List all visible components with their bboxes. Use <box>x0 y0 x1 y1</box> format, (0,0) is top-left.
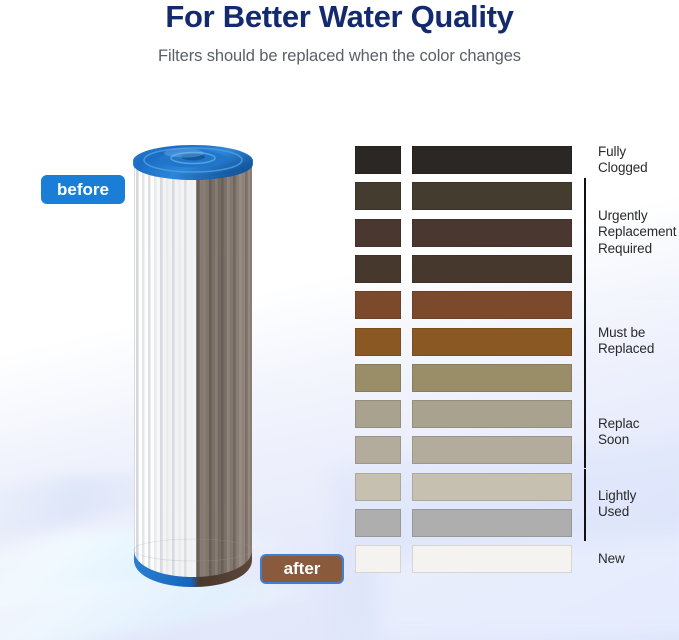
swatch-wide <box>412 182 572 210</box>
swatch-wide <box>412 509 572 537</box>
page-subtitle: Filters should be replaced when the colo… <box>0 47 679 66</box>
filter-illustration <box>126 136 260 596</box>
swatch-small <box>355 255 401 283</box>
swatch-small <box>355 219 401 247</box>
group-label: Must be Replaced <box>598 325 654 358</box>
swatch-small <box>355 182 401 210</box>
swatch-small <box>355 473 401 501</box>
group-label: Replac Soon <box>598 416 639 449</box>
group-label: Lightly Used <box>598 488 636 521</box>
badge-after-label: after <box>284 559 321 579</box>
swatch-wide <box>412 291 572 319</box>
swatch-small <box>355 545 401 573</box>
header: For Better Water Quality Filters should … <box>0 0 679 66</box>
group-bracket-line <box>584 287 586 396</box>
badge-after: after <box>260 554 344 584</box>
swatch-wide <box>412 146 572 174</box>
group-label: Fully Clogged <box>598 144 648 177</box>
swatch-small <box>355 328 401 356</box>
swatch-small <box>355 400 401 428</box>
group-bracket-line <box>584 469 586 541</box>
swatch-small <box>355 509 401 537</box>
water-filter-cartridge <box>126 136 260 596</box>
swatch-wide <box>412 545 572 573</box>
group-label: Urgently Replacement Required <box>598 208 676 257</box>
group-label: New <box>598 551 625 567</box>
badge-before: before <box>41 175 125 204</box>
badge-before-label: before <box>57 180 109 200</box>
swatch-small <box>355 436 401 464</box>
swatch-small <box>355 146 401 174</box>
swatch-wide <box>412 364 572 392</box>
page-title: For Better Water Quality <box>0 0 679 34</box>
swatch-small <box>355 364 401 392</box>
swatch-wide <box>412 219 572 247</box>
group-bracket-line <box>584 178 586 287</box>
background-water-graphic <box>0 0 679 640</box>
swatch-wide <box>412 328 572 356</box>
swatch-wide <box>412 473 572 501</box>
swatch-wide <box>412 255 572 283</box>
swatch-wide <box>412 436 572 464</box>
swatch-wide <box>412 400 572 428</box>
group-bracket-line <box>584 396 586 468</box>
swatch-small <box>355 291 401 319</box>
